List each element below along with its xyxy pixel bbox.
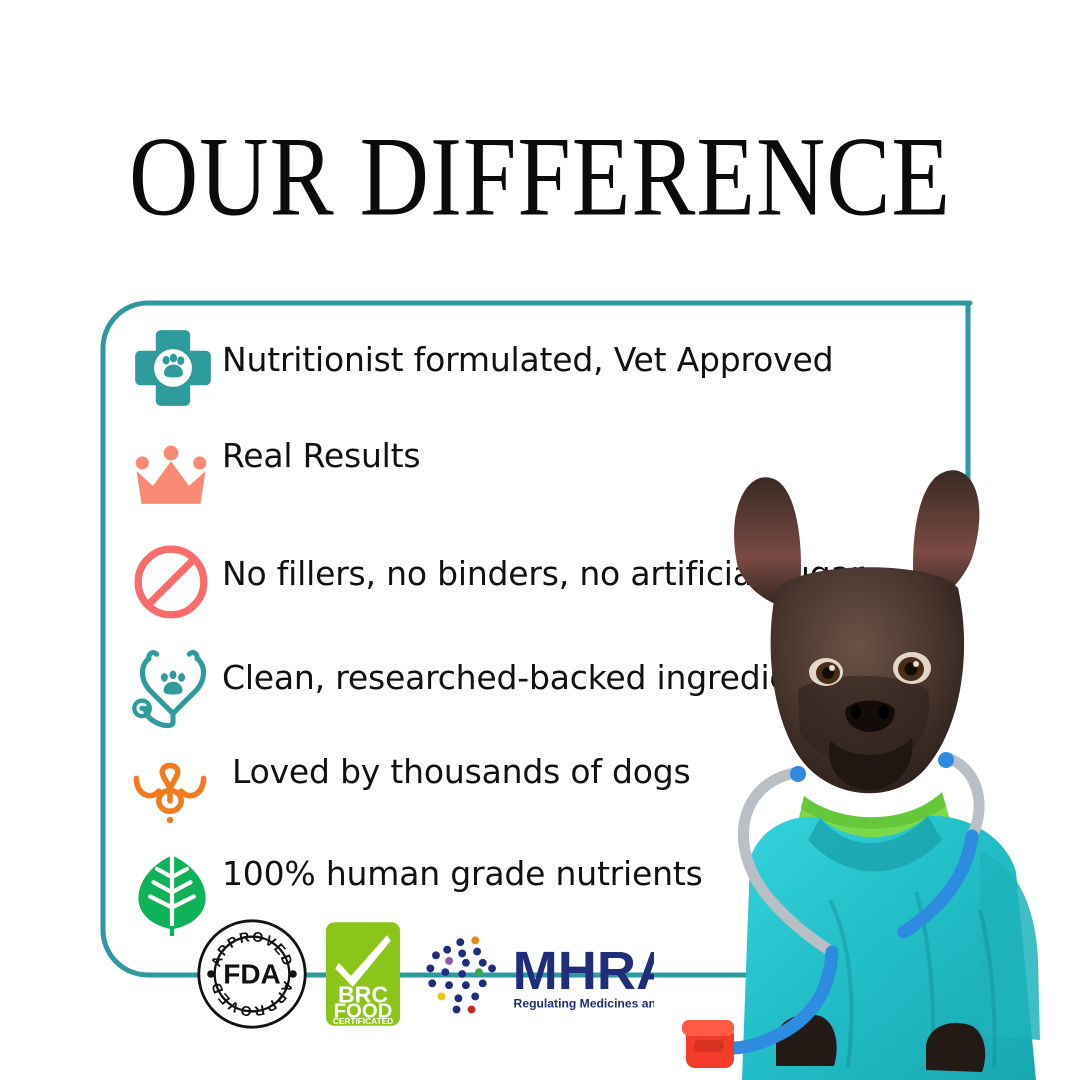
fda-approved-badge-icon: APPROVED APPROVED FDA <box>196 918 308 1030</box>
prohibition-no-entry-icon <box>130 536 222 628</box>
svg-text:FDA: FDA <box>223 958 281 989</box>
svg-text:Regulating Medicines and Medic: Regulating Medicines and Medical Devices <box>514 997 654 1011</box>
page-title: OUR DIFFERENCE <box>0 120 1080 233</box>
mhra-logo-icon: MHRA Regulating Medicines and Medical De… <box>418 931 654 1017</box>
svg-text:MHRA: MHRA <box>513 941 654 1001</box>
benefit-label: Nutritionist formulated, Vet Approved <box>222 322 920 380</box>
french-bulldog-in-scrubs-photo <box>680 440 1080 1080</box>
benefit-item: Nutritionist formulated, Vet Approved <box>130 322 920 414</box>
brc-food-certificated-badge-icon: BRC FOOD CERTIFICATED <box>326 922 400 1026</box>
crown-icon <box>130 430 222 522</box>
dog-face-icon <box>130 746 222 838</box>
heart-stethoscope-paw-icon <box>130 640 222 732</box>
svg-text:CERTIFICATED: CERTIFICATED <box>333 1016 393 1026</box>
certification-badge-strip: APPROVED APPROVED FDA BRC FOOD CERTIFICA… <box>196 918 654 1030</box>
medical-cross-paw-icon <box>130 322 222 414</box>
poster-canvas: OUR DIFFERENCE Nut <box>0 0 1080 1080</box>
